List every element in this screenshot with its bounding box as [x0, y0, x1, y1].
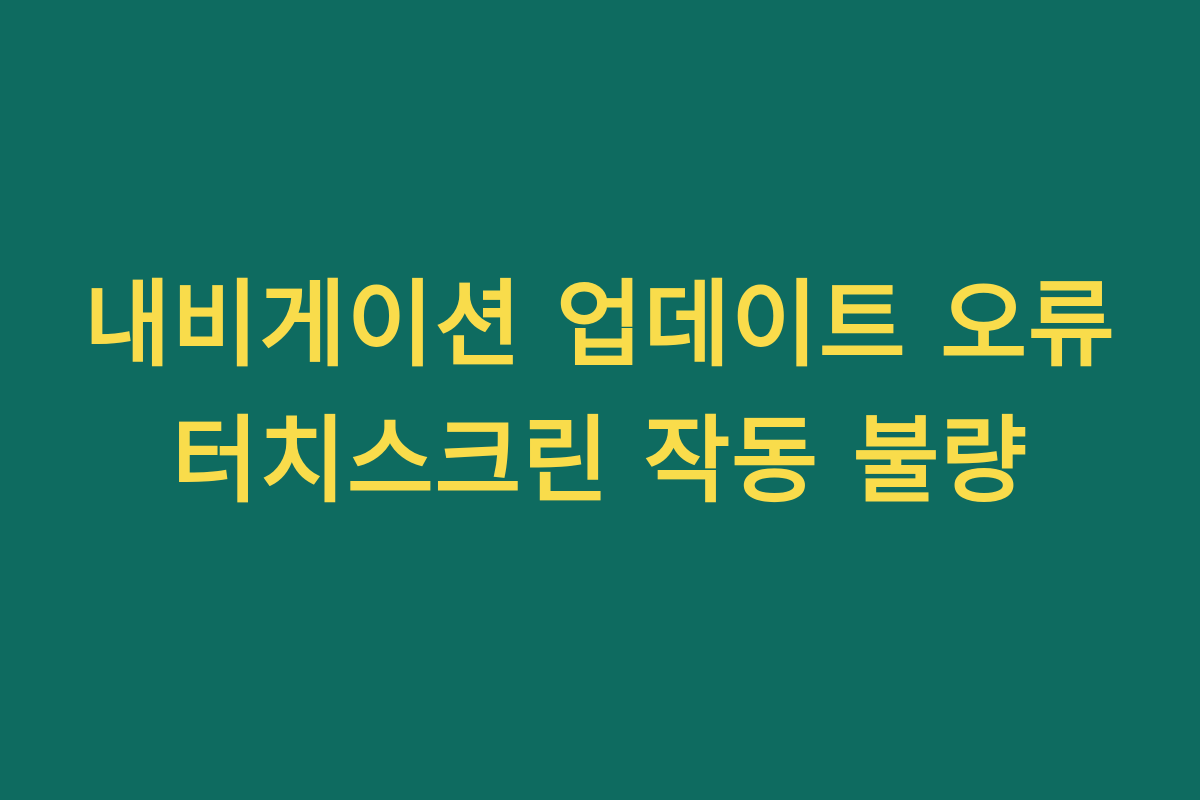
headline-block: 내비게이션 업데이트 오류 터치스크린 작동 불량 — [80, 258, 1120, 531]
headline-text: 내비게이션 업데이트 오류 터치스크린 작동 불량 — [80, 258, 1120, 531]
text-card: 내비게이션 업데이트 오류 터치스크린 작동 불량 — [0, 0, 1200, 800]
